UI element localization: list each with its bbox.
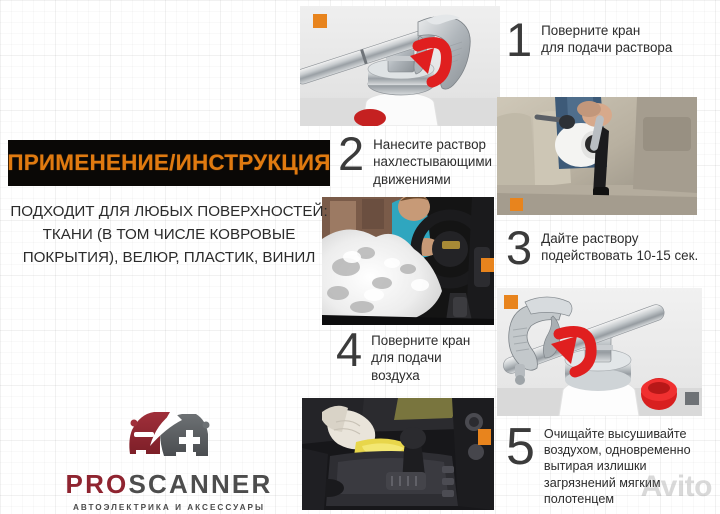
surfaces-line-1: ПОДХОДИТ ДЛЯ ЛЮБЫХ ПОВЕРХНОСТЕЙ:	[8, 200, 330, 223]
step-1-line-1: Поверните кран	[541, 22, 672, 39]
brand-logo: PROSCANNER АВТОЭЛЕКТРИКА И АКСЕССУАРЫ	[58, 404, 280, 512]
step-5-number: 5	[506, 424, 535, 472]
step-4-line-2: для подачи	[371, 349, 470, 366]
instruction-poster: ПРИМЕНЕНИЕ/ИНСТРУКЦИЯ ПОДХОДИТ ДЛЯ ЛЮБЫХ…	[0, 0, 720, 514]
headline-banner: ПРИМЕНЕНИЕ/ИНСТРУКЦИЯ	[8, 140, 330, 186]
step-2: 2 Нанесите раствор нахлестывающими движе…	[338, 132, 492, 188]
step-5: 5 Очищайте высушивайте воздухом, одновре…	[506, 424, 691, 507]
step-1: 1 Поверните кран для подачи раствора	[506, 18, 672, 61]
step-2-text: Нанесите раствор нахлестывающими движени…	[373, 132, 492, 188]
surfaces-line-2: ТКАНИ (В ТОМ ЧИСЛЕ КОВРОВЫЕ	[8, 223, 330, 246]
step-2-number: 2	[338, 132, 364, 175]
surfaces-line-3: ПОКРЫТИЯ), ВЕЛЮР, ПЛАСТИК, ВИНИЛ	[8, 246, 330, 269]
step-5-line-4: загрязнений мягким	[544, 475, 691, 491]
step-3-line-1: Дайте раствору	[541, 230, 698, 247]
spray-gun-red-cap-photo	[497, 288, 702, 416]
logo-tagline: АВТОЭЛЕКТРИКА И АКСЕССУАРЫ	[58, 503, 280, 512]
accent-square-1	[313, 14, 327, 28]
wiping-console-photo	[302, 398, 494, 510]
headline-text: ПРИМЕНЕНИЕ/ИНСТРУКЦИЯ	[7, 150, 330, 176]
step-3-text: Дайте раствору подействовать 10-15 сек.	[541, 226, 698, 265]
step-2-line-1: Нанесите раствор	[373, 136, 492, 153]
step-5-line-5: полотенцем	[544, 491, 691, 507]
step-4-number: 4	[336, 328, 362, 371]
step-3-number: 3	[506, 226, 532, 269]
spray-gun-valve-photo	[300, 6, 500, 126]
step-4-text: Поверните кран для подачи воздуха	[371, 328, 470, 384]
step-3: 3 Дайте раствору подействовать 10-15 сек…	[506, 226, 698, 269]
accent-square-3	[504, 295, 518, 309]
logo-word-pro: PRO	[66, 469, 129, 499]
step-4-line-1: Поверните кран	[371, 332, 470, 349]
logo-wordmark: PROSCANNER	[58, 469, 280, 500]
car-plus-icon	[58, 404, 280, 466]
accent-square-5	[481, 258, 494, 272]
surfaces-description: ПОДХОДИТ ДЛЯ ЛЮБЫХ ПОВЕРХНОСТЕЙ: ТКАНИ (…	[8, 200, 330, 269]
step-5-line-2: воздухом, одновременно	[544, 442, 691, 458]
step-5-text: Очищайте высушивайте воздухом, одновреме…	[544, 424, 691, 507]
foam-applied-seat-photo	[322, 197, 494, 325]
logo-word-scanner: SCANNER	[128, 469, 272, 499]
accent-square-2	[510, 198, 523, 211]
step-5-line-1: Очищайте высушивайте	[544, 426, 691, 442]
step-1-text: Поверните кран для подачи раствора	[541, 18, 672, 57]
step-2-line-3: движениями	[373, 171, 492, 188]
step-1-number: 1	[506, 18, 532, 61]
car-interior-cleaning-photo	[497, 97, 697, 215]
step-4: 4 Поверните кран для подачи воздуха	[336, 328, 470, 384]
step-1-line-2: для подачи раствора	[541, 39, 672, 56]
step-3-line-2: подействовать 10-15 сек.	[541, 247, 698, 264]
step-5-line-3: вытирая излишки	[544, 458, 691, 474]
accent-square-6	[478, 429, 491, 445]
step-4-line-3: воздуха	[371, 367, 470, 384]
step-2-line-2: нахлестывающими	[373, 153, 492, 170]
